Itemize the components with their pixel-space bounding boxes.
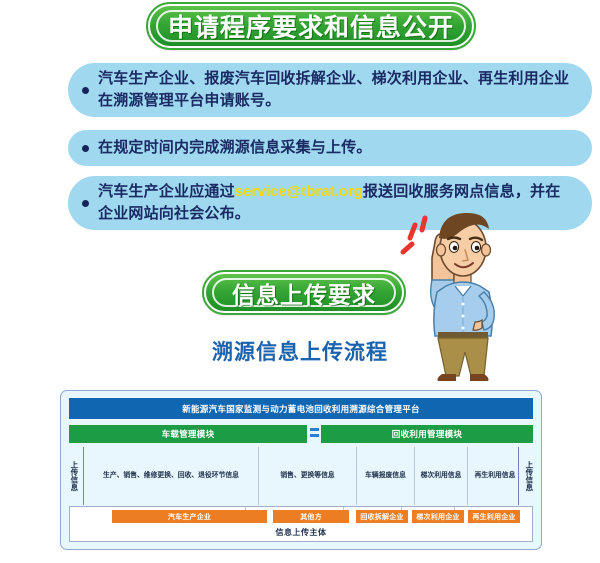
contact-email-link[interactable]: service@tbrat.org bbox=[235, 183, 363, 200]
subject-box-dismantler: 回收拆解企业 bbox=[356, 510, 408, 523]
requirement-pill-1: 汽车生产企业、报废汽车回收拆解企业、梯次利用企业、再生利用企业在溯源管理平台申请… bbox=[68, 63, 592, 117]
column-cell-sales: 销售、更换等信息 bbox=[259, 447, 357, 505]
requirement-pill-2-text: 在规定时间内完成溯源信息采集与上传。 bbox=[98, 137, 372, 160]
platform-bar: 新能源汽车国家监测与动力蓄电池回收利用溯源综合管理平台 bbox=[69, 398, 533, 419]
emphasis-marks-icon bbox=[403, 218, 425, 252]
subject-box-regenerator: 再生利用企业 bbox=[468, 510, 520, 523]
equals-connector-icon bbox=[310, 428, 319, 440]
column-cell-scrap: 车辆报废信息 bbox=[357, 447, 415, 505]
module-bar-vehicle: 车载管理模块 bbox=[69, 425, 307, 443]
bullet-dot-icon bbox=[82, 87, 89, 94]
subject-caption: 信息上传主体 bbox=[70, 527, 532, 538]
column-cell-regeneration: 再生利用信息 bbox=[468, 447, 522, 505]
side-label-upload-right: 上传信息 bbox=[522, 449, 535, 503]
upload-badge-label: 信息上传要求 bbox=[232, 276, 376, 310]
requirement-pill-2: 在规定时间内完成溯源信息采集与上传。 bbox=[68, 130, 592, 166]
title-badge-label: 申请程序要求和信息公开 bbox=[168, 8, 454, 44]
information-columns: 生产、销售、维修更换、回收、退役环节信息 销售、更换等信息 车辆报废信息 梯次利… bbox=[83, 447, 519, 505]
illustration-man-pointing-up bbox=[398, 198, 522, 383]
subject-box-other: 其他方 bbox=[273, 510, 349, 523]
column-cell-production: 生产、销售、维修更换、回收、退役环节信息 bbox=[84, 447, 259, 505]
side-label-upload-left: 上传信息 bbox=[67, 449, 80, 503]
subject-band: 汽车生产企业 其他方 回收拆解企业 梯次利用企业 再生利用企业 信息上传主体 bbox=[69, 506, 533, 542]
bullet-dot-icon bbox=[82, 145, 89, 152]
flow-diagram: 新能源汽车国家监测与动力蓄电池回收利用溯源综合管理平台 车载管理模块 回收利用管… bbox=[60, 390, 542, 550]
upload-requirements-badge: 信息上传要求 bbox=[204, 272, 404, 313]
bullet-dot-icon bbox=[82, 200, 89, 207]
requirement-pill-1-text: 汽车生产企业、报废汽车回收拆解企业、梯次利用企业、再生利用企业在溯源管理平台申请… bbox=[98, 68, 572, 113]
requirement-2-text: 在规定时间内完成溯源信息采集与上传。 bbox=[98, 139, 372, 156]
subject-box-echelon: 梯次利用企业 bbox=[412, 510, 464, 523]
module-bar-recycle: 回收利用管理模块 bbox=[321, 425, 533, 443]
requirement-1-text: 汽车生产企业、报废汽车回收拆解企业、梯次利用企业、再生利用企业在溯源管理平台申请… bbox=[98, 70, 569, 110]
title-badge: 申请程序要求和信息公开 bbox=[148, 4, 474, 48]
requirement-3-text-before: 汽车生产企业应通过 bbox=[98, 183, 235, 200]
column-cell-echelon: 梯次利用信息 bbox=[415, 447, 468, 505]
subject-box-automaker: 汽车生产企业 bbox=[112, 510, 267, 523]
